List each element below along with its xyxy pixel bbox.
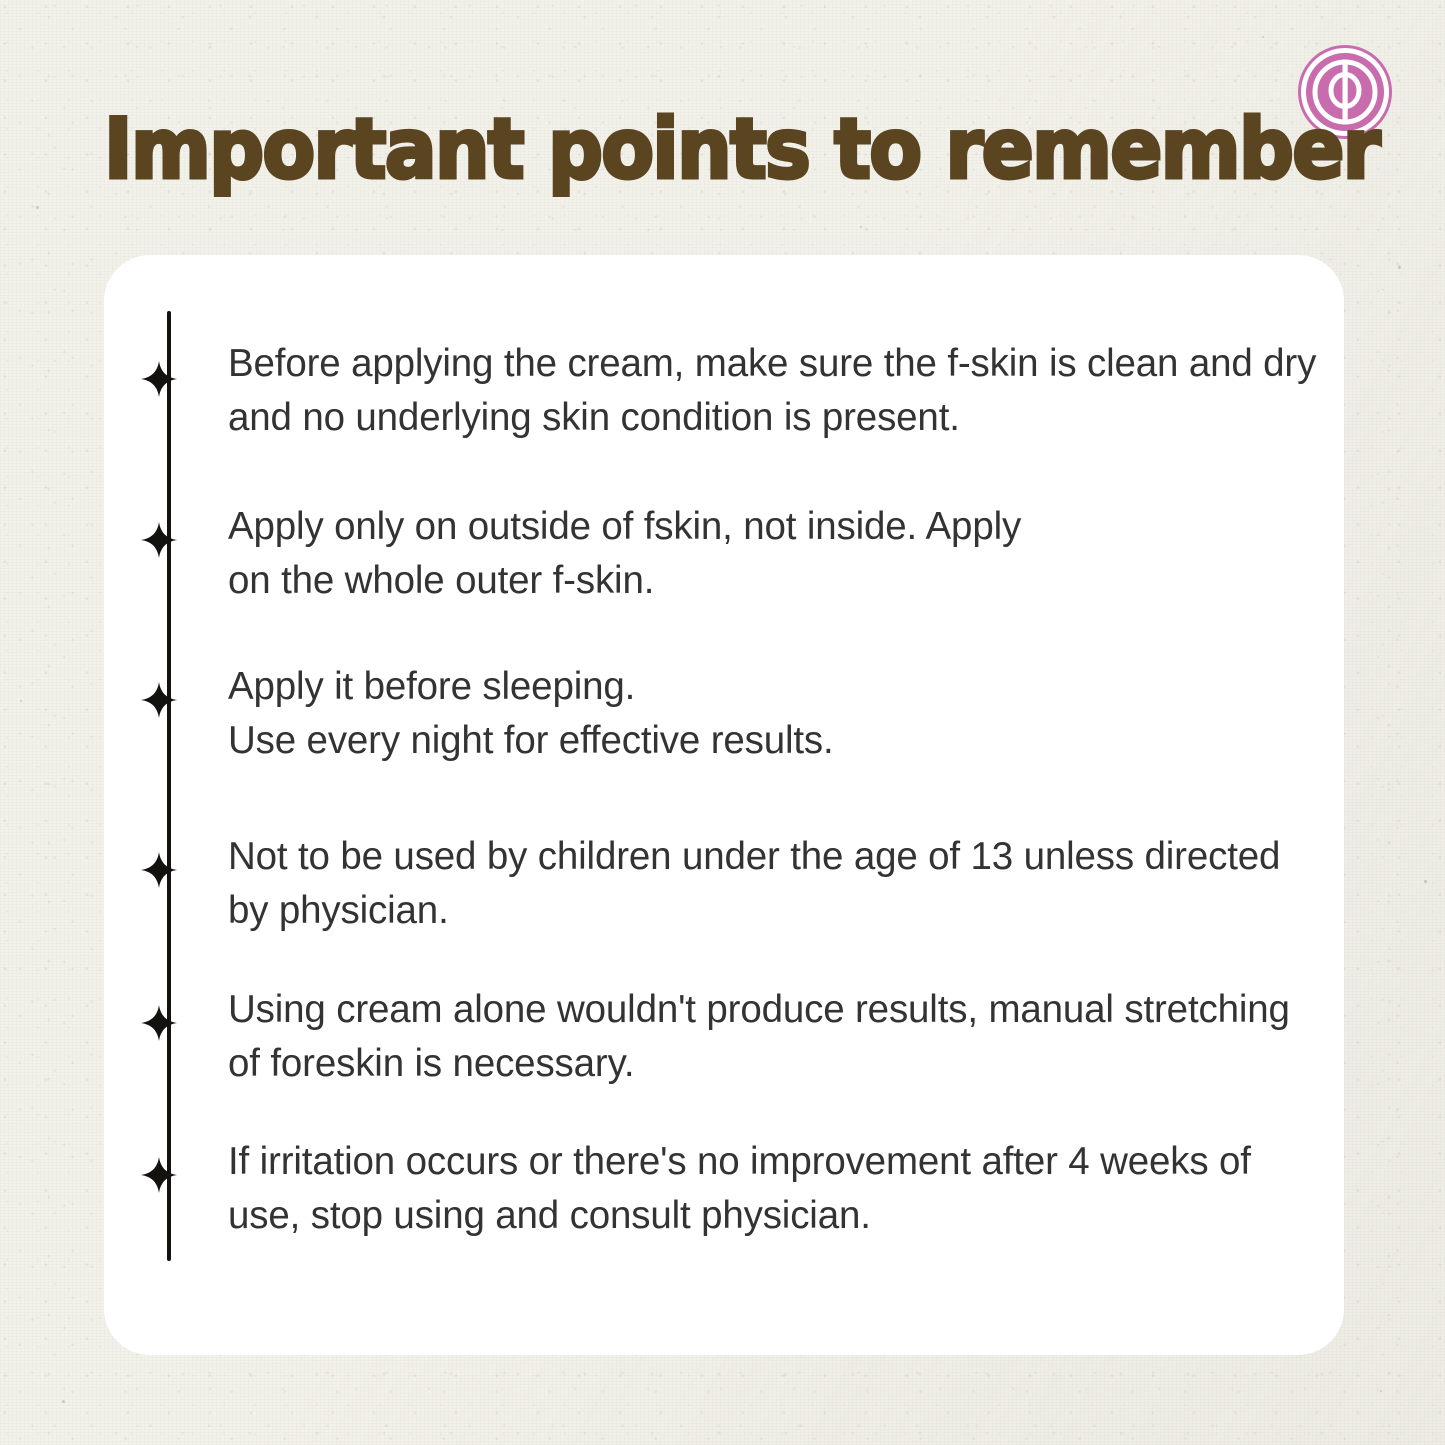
point-text: Apply it before sleeping. Use every nigh… <box>228 660 1318 768</box>
paper-speck <box>860 226 862 228</box>
point-text: Using cream alone wouldn't produce resul… <box>228 983 1318 1091</box>
sparkle-four-point-star-icon <box>141 522 177 558</box>
sparkle-four-point-star-icon <box>141 1157 177 1193</box>
points-card: Before applying the cream, make sure the… <box>104 255 1344 1355</box>
list-item: Not to be used by children under the age… <box>228 830 1318 938</box>
list-item: Apply it before sleeping. Use every nigh… <box>228 660 1318 768</box>
points-list: Before applying the cream, make sure the… <box>104 255 1344 1355</box>
sparkle-four-point-star-icon <box>141 682 177 718</box>
sparkle-four-point-star-icon <box>141 361 177 397</box>
point-text: Not to be used by children under the age… <box>228 830 1318 938</box>
list-item: Before applying the cream, make sure the… <box>228 337 1318 445</box>
sparkle-four-point-star-icon <box>141 1005 177 1041</box>
paper-speck <box>1262 36 1264 38</box>
point-text: If irritation occurs or there's no impro… <box>228 1135 1318 1243</box>
paper-speck <box>1380 1390 1382 1392</box>
paper-speck <box>20 700 22 702</box>
point-text: Before applying the cream, make sure the… <box>228 337 1318 445</box>
paper-speck <box>62 1400 65 1403</box>
sparkle-four-point-star-icon <box>141 852 177 888</box>
paper-speck <box>1424 880 1427 883</box>
infographic-page: Important points to remember Before appl… <box>0 0 1445 1445</box>
list-item: Using cream alone wouldn't produce resul… <box>228 983 1318 1091</box>
list-item: If irritation occurs or there's no impro… <box>228 1135 1318 1243</box>
paper-speck <box>1398 266 1401 269</box>
page-title: Important points to remember <box>104 108 1398 191</box>
list-item: Apply only on outside of fskin, not insi… <box>228 500 1318 608</box>
paper-speck <box>36 206 39 209</box>
point-text: Apply only on outside of fskin, not insi… <box>228 500 1318 608</box>
